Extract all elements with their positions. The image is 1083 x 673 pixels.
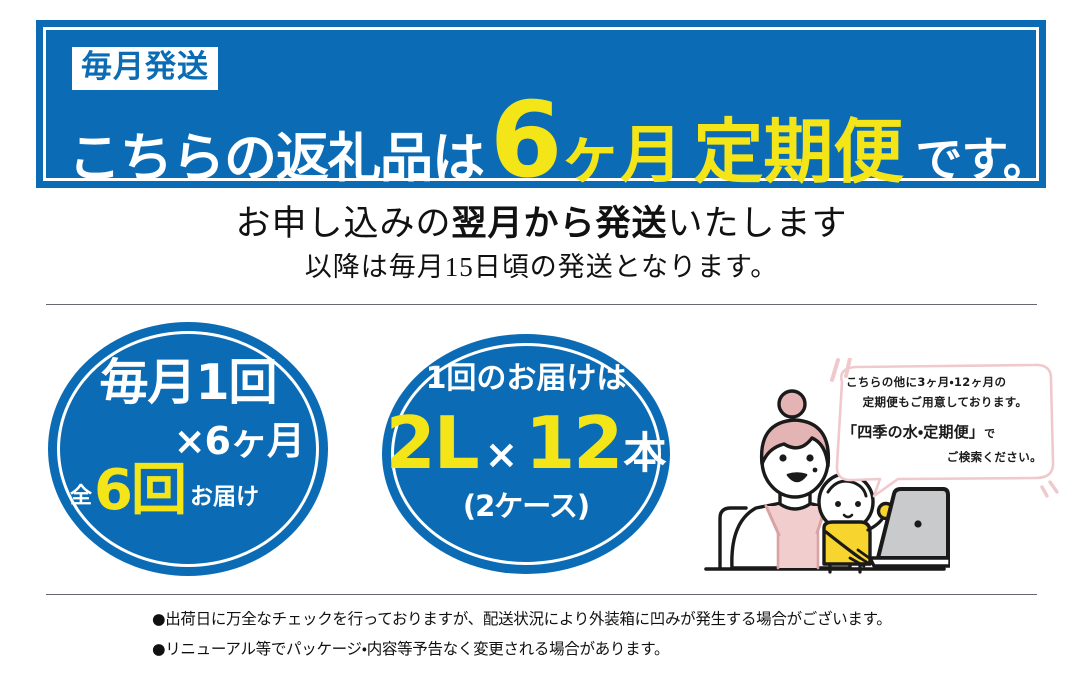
frequency-line-1: 毎月1回 [48,358,328,407]
subtitle-plain-a: お申し込みの [235,204,451,243]
multiply-symbol: × [485,435,519,475]
quantity-row: 2L × 12 本 [382,407,670,479]
header-banner-inner-frame: 毎月発送 こちらの返礼品は 6 ヶ月 定期便 です。 [43,27,1039,181]
frequency-total-row: 全 6回 お届け [70,464,310,517]
speech-bubble: こちらの他に3ヶ月・12ヶ月の 定期便もご用意しております。 「四季の水・定期便… [828,358,1060,498]
promo-banner-page: 毎月発送 こちらの返礼品は 6 ヶ月 定期便 です。 お申し込みの翌月から発送い… [0,0,1083,673]
bubble-line-1: こちらの他に3ヶ月・12ヶ月の [842,372,1048,392]
frequency-total-prefix: 全 [70,486,92,508]
headline-emphasis: 定期便 [693,117,903,187]
subtitle-block: お申し込みの翌月から発送いたします 以降は毎月15日頃の発送となります。 [0,202,1083,285]
frequency-line-2: ×6ヶ月 [174,422,304,460]
bubble-line-3: 「四季の水・定期便」で [842,419,1048,445]
frequency-ellipse: 毎月1回 ×6ヶ月 全 6回 お届け [48,322,328,576]
subtitle-line-2: 以降は毎月15日頃の発送となります。 [0,250,1083,285]
headline-number: 6 [490,103,559,178]
divider-top [46,304,1037,305]
quantity-volume: 2L [386,407,478,479]
bubble-line-4: ご検索ください。 [842,447,1048,467]
bubble-line-3-tail: で [984,427,995,440]
frequency-total-suffix: お届け [190,486,259,509]
quantity-count: 12 [525,407,621,479]
subtitle-plain-b: いたします [668,204,848,243]
footer-note-2: ●リニューアル等でパッケージ・内容等予告なく変更される場合があります。 [152,634,1052,664]
bubble-line-2: 定期便もご用意しております。 [842,392,1048,412]
bubble-search-term: 「四季の水・定期便」 [842,423,984,441]
subtitle-line-1: お申し込みの翌月から発送いたします [0,202,1083,246]
quantity-ellipse: 1回のお届けは 2L × 12 本 (2ケース) [382,334,670,574]
speech-bubble-text: こちらの他に3ヶ月・12ヶ月の 定期便もご用意しております。 「四季の水・定期便… [828,358,1060,480]
quantity-unit: 本 [623,433,666,476]
footer-notes: ●出荷日に万全なチェックを行っておりますが、配送状況により外装箱に凹みが発生する… [152,604,1052,664]
quantity-line-3: (2ケース) [382,492,670,521]
subtitle-bold: 翌月から発送 [451,204,667,243]
quantity-line-1: 1回のお届けは [382,364,670,394]
headline-unit: ヶ月 [559,124,681,186]
monthly-shipping-badge: 毎月発送 [72,47,218,90]
footer-note-1: ●出荷日に万全なチェックを行っておりますが、配送状況により外装箱に凹みが発生する… [152,604,1052,634]
divider-bottom [46,594,1037,595]
headline: こちらの返礼品は 6 ヶ月 定期便 です。 [68,103,1049,187]
headline-prefix: こちらの返礼品は [68,132,484,185]
frequency-total-count: 6回 [94,464,185,517]
header-banner: 毎月発送 こちらの返礼品は 6 ヶ月 定期便 です。 [36,20,1046,188]
headline-suffix: です。 [915,137,1048,184]
